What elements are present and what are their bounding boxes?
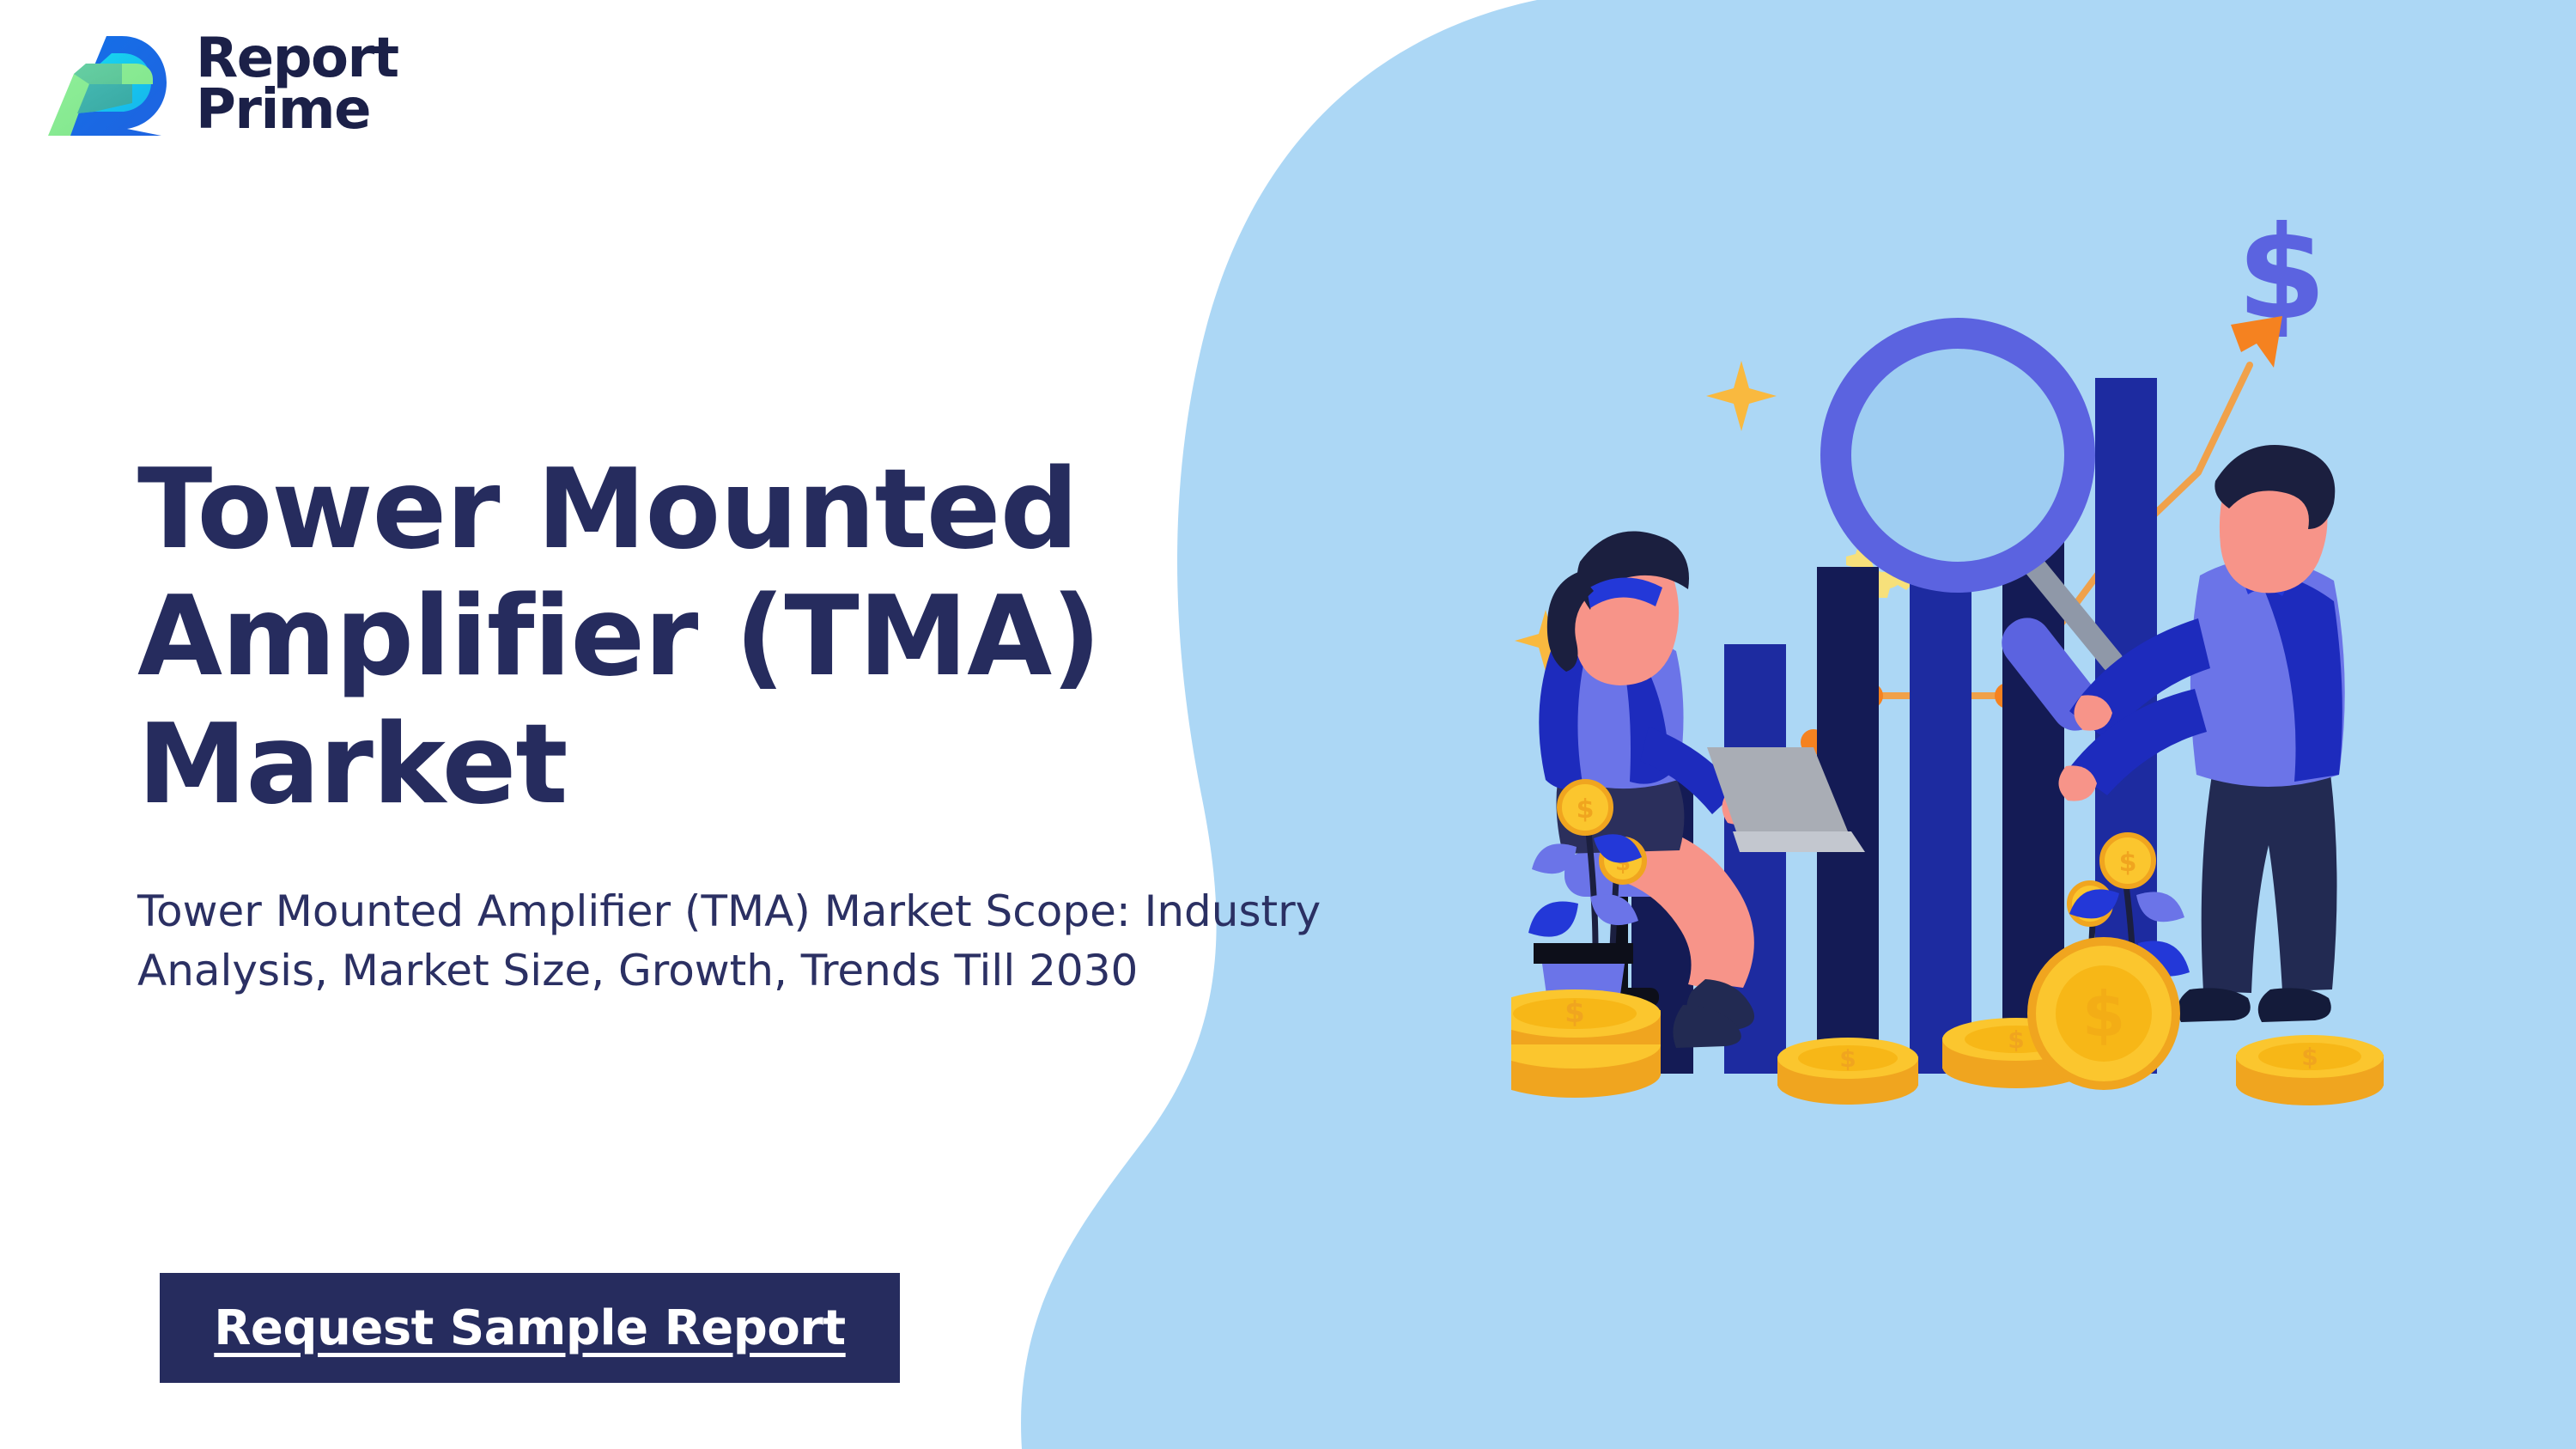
pot-rim <box>1534 943 1633 964</box>
brand-wordmark: Report Prime <box>196 33 398 136</box>
hero-copy: Tower Mounted Amplifier (TMA) Market Tow… <box>137 447 1477 1001</box>
request-sample-report-label: Request Sample Report <box>214 1300 845 1356</box>
market-research-growth-illustration: $ $ <box>1511 215 2473 1125</box>
trousers <box>2202 761 2337 993</box>
coin-stack-left: $ <box>1511 989 1661 1098</box>
svg-text:$: $ <box>2082 978 2125 1050</box>
svg-text:$: $ <box>1577 795 1595 825</box>
svg-text:$: $ <box>2119 848 2137 878</box>
request-sample-report-button[interactable]: Request Sample Report <box>160 1273 900 1383</box>
coin-standing-large: $ <box>2032 941 2176 1086</box>
page-title: Tower Mounted Amplifier (TMA) Market <box>137 447 1477 829</box>
svg-text:$: $ <box>1839 1044 1856 1073</box>
svg-text:$: $ <box>1564 995 1585 1030</box>
shoe-right <box>2258 988 2331 1022</box>
report-banner-page: Report Prime Tower Mounted Amplifier (TM… <box>0 0 2576 1449</box>
shoe-left <box>2178 988 2251 1022</box>
growth-line-arrow-head <box>2231 316 2282 368</box>
brand-logo[interactable]: Report Prime <box>33 24 398 144</box>
coin-stack-far-right: $ <box>2236 1035 2384 1105</box>
laptop-keyboard <box>1733 831 1865 852</box>
report-prime-logo-mark <box>33 24 170 144</box>
svg-text:$: $ <box>2008 1026 2024 1054</box>
coin-stack-center: $ <box>1777 1038 1918 1105</box>
page-subtitle: Tower Mounted Amplifier (TMA) Market Sco… <box>137 882 1477 1001</box>
leaf <box>1528 902 1578 937</box>
brand-name-line-1: Report <box>196 33 398 84</box>
brand-name-line-2: Prime <box>196 84 398 136</box>
svg-text:$: $ <box>2301 1043 2318 1071</box>
